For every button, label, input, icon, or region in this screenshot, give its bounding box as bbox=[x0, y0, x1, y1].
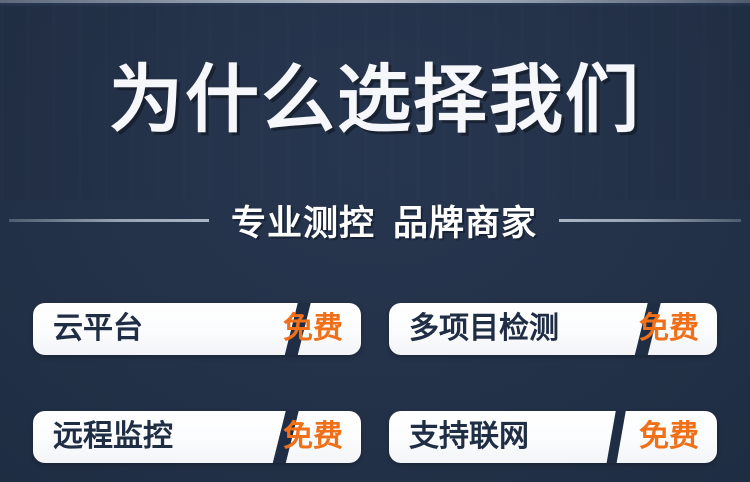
divider-line-left bbox=[9, 219, 209, 222]
badge-label: 多项目检测 bbox=[389, 314, 559, 344]
badge-free-tag: 免费 bbox=[639, 422, 699, 452]
subtitle-part-2: 品牌商家 bbox=[393, 204, 537, 243]
subtitle-row: 专业测控品牌商家 bbox=[0, 196, 750, 244]
page-title: 为什么选择我们 bbox=[0, 56, 750, 144]
badge-label: 远程监控 bbox=[33, 422, 173, 452]
badge-free-tag: 免费 bbox=[283, 422, 343, 452]
top-edge-shadow bbox=[0, 3, 750, 7]
feature-badge-multi-item-detection[interactable]: 多项目检测 免费 bbox=[389, 303, 717, 355]
feature-badge-remote-monitoring[interactable]: 远程监控 免费 bbox=[33, 411, 361, 463]
promo-banner: 为什么选择我们 专业测控品牌商家 云平台 免费 多项目检测 免费 远程监控 免费… bbox=[0, 0, 750, 482]
badge-free-tag: 免费 bbox=[639, 314, 699, 344]
feature-badge-cloud-platform[interactable]: 云平台 免费 bbox=[33, 303, 361, 355]
subtitle: 专业测控品牌商家 bbox=[209, 195, 559, 246]
badge-free-tag: 免费 bbox=[283, 314, 343, 344]
subtitle-part-1: 专业测控 bbox=[231, 204, 375, 243]
feature-badge-grid: 云平台 免费 多项目检测 免费 远程监控 免费 支持联网 免费 bbox=[33, 303, 717, 463]
badge-label: 支持联网 bbox=[389, 422, 529, 452]
feature-badge-network-support[interactable]: 支持联网 免费 bbox=[389, 411, 717, 463]
badge-label: 云平台 bbox=[33, 314, 143, 344]
slash-divider-icon bbox=[606, 411, 627, 463]
divider-line-right bbox=[559, 219, 741, 222]
